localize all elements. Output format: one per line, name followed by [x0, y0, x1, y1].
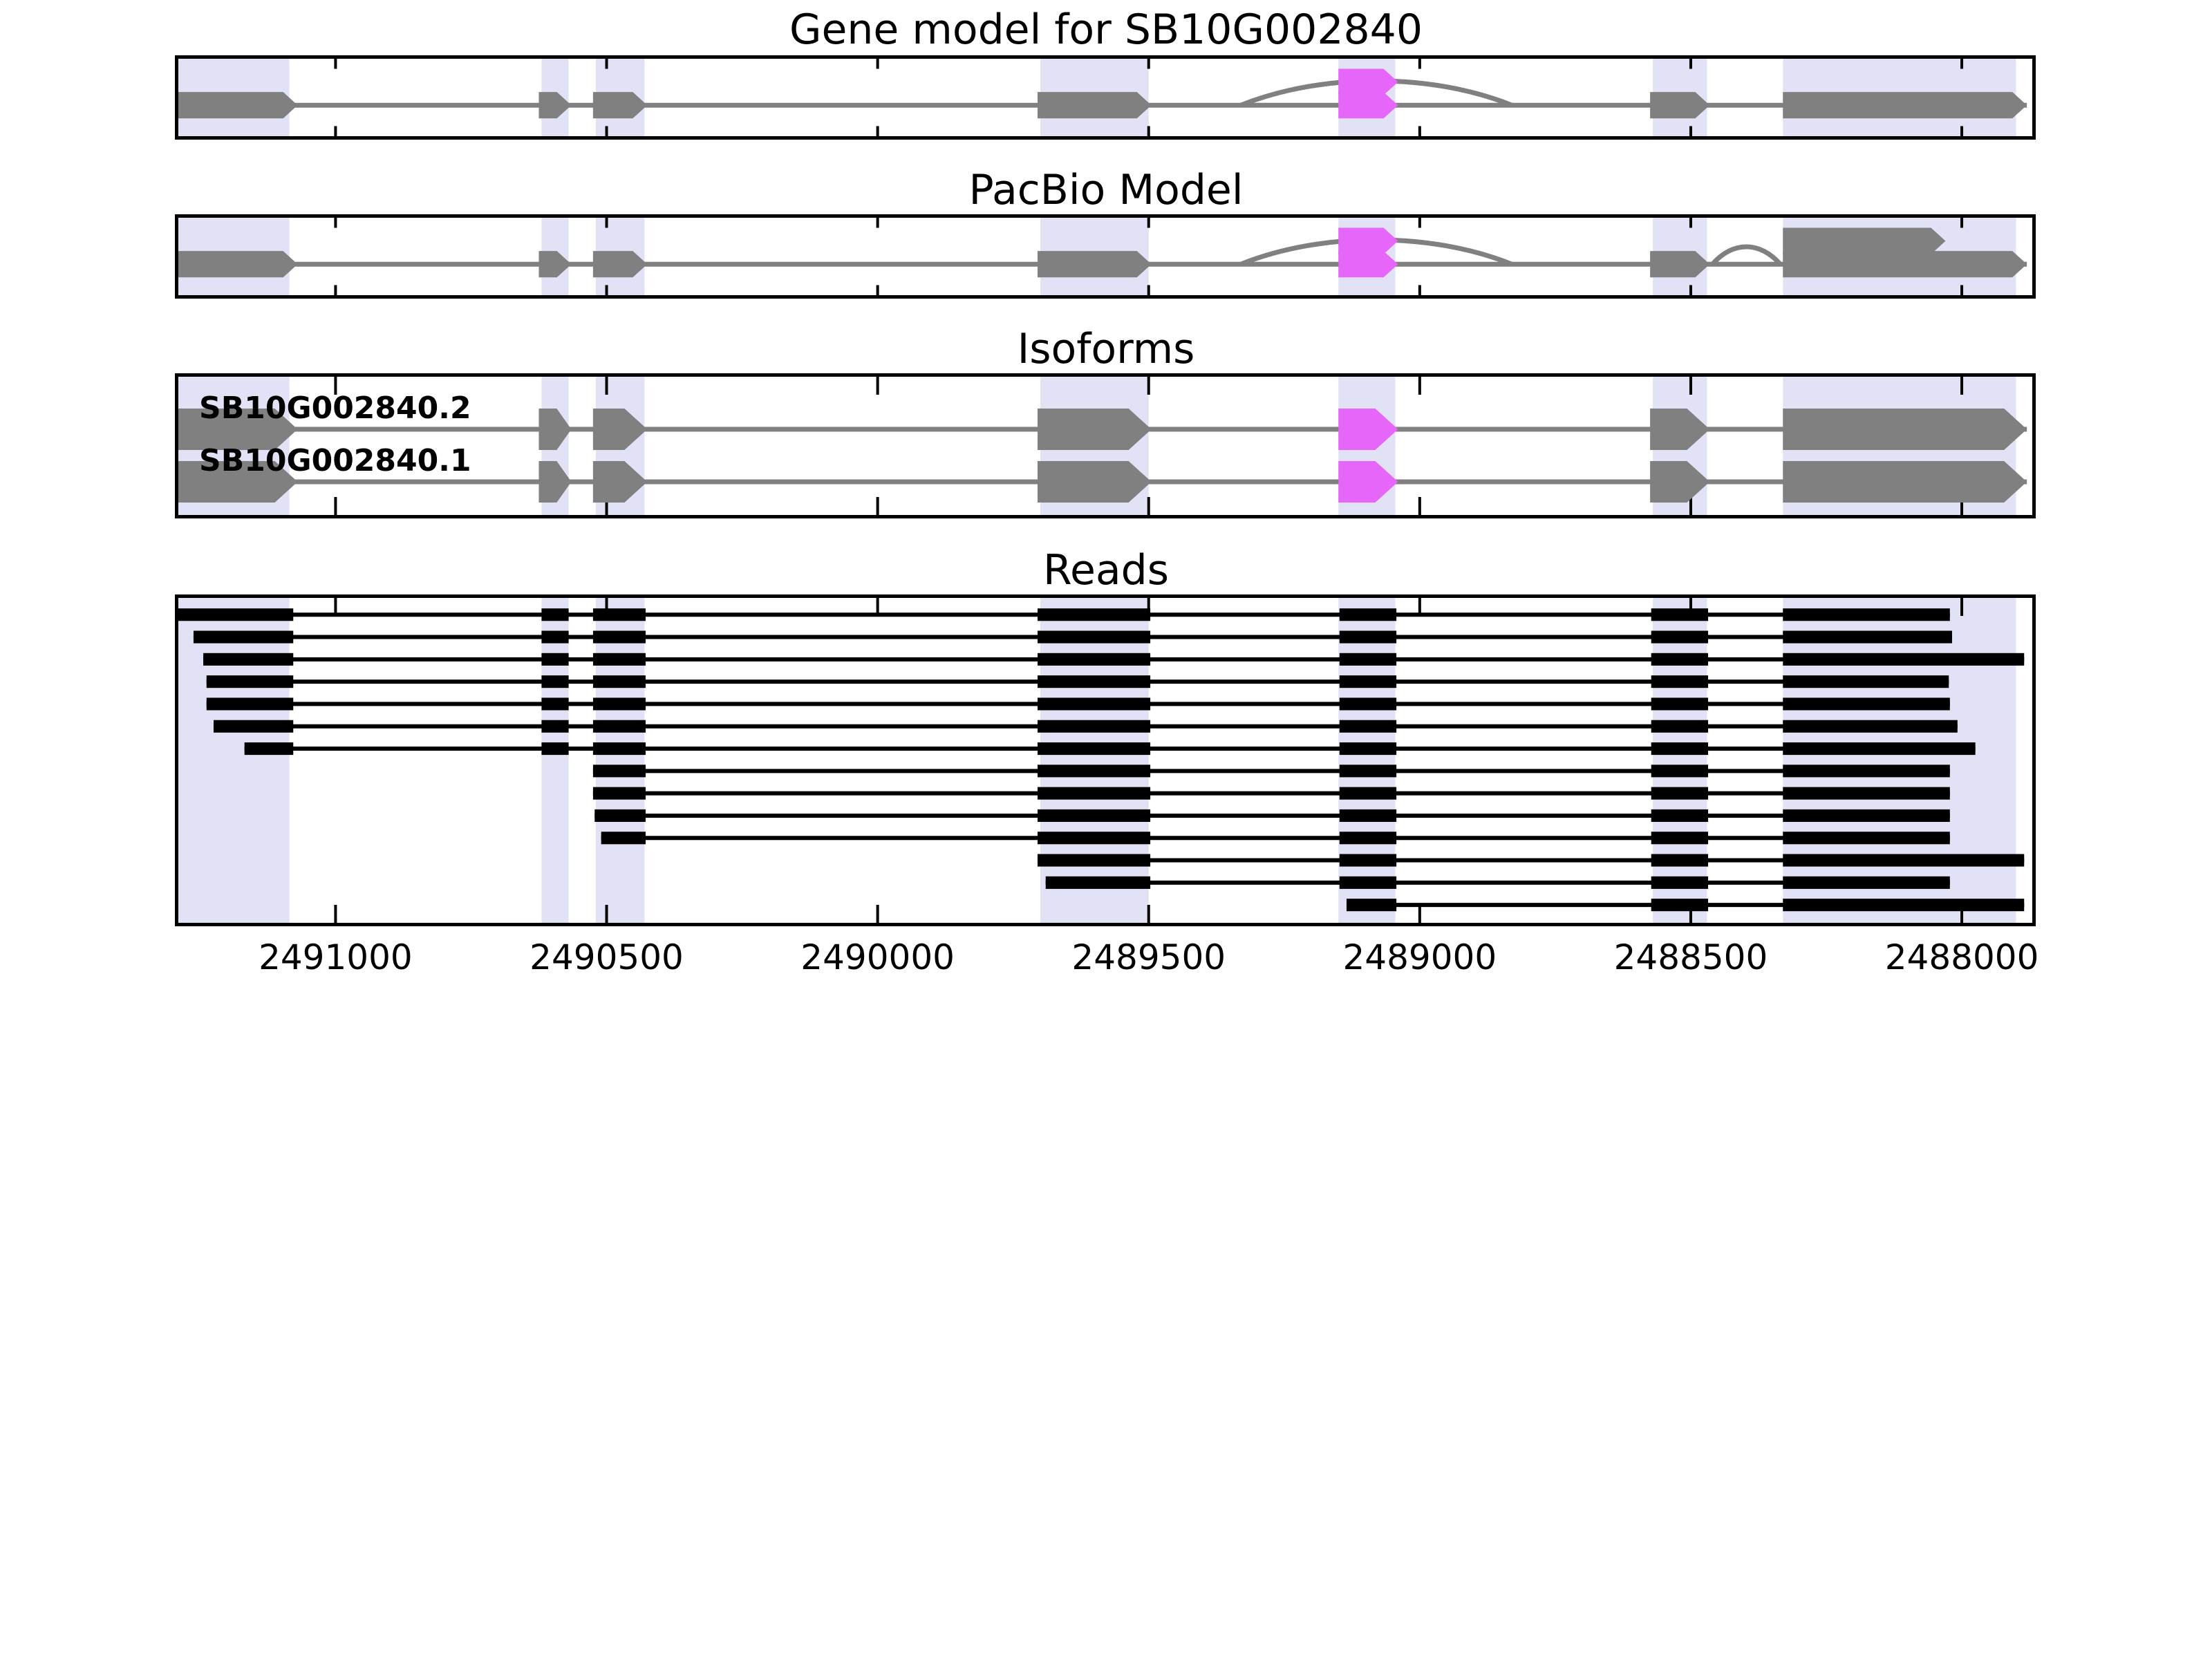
read-exon-block — [1340, 742, 1396, 755]
track-canvas-pacbio-model — [178, 218, 2032, 295]
read-exon-block — [1340, 608, 1396, 621]
panel-title-isoforms: Isoforms — [0, 325, 2212, 373]
read-exon-block — [1783, 832, 1950, 844]
read-exon-block — [1783, 765, 1950, 777]
shaded-band-3 — [1040, 598, 1149, 923]
panel-pacbio-model — [175, 214, 2036, 299]
read-exon-block — [1783, 720, 1958, 733]
exon-block — [1783, 409, 2027, 450]
exon-block — [1783, 228, 1945, 254]
read-exon-block — [1651, 899, 1708, 911]
panel-title-pacbio-model: PacBio Model — [0, 166, 2212, 214]
exon-block — [178, 92, 298, 118]
read-exon-block — [1783, 899, 2024, 911]
exon-block — [178, 251, 298, 277]
exon-block — [1038, 461, 1152, 503]
isoform-label-2: SB10G002840.1 — [199, 443, 471, 478]
axis-tick-label-4: 2489000 — [1342, 937, 1497, 977]
read-exon-block — [1038, 697, 1150, 710]
shaded-band-1 — [541, 598, 568, 923]
read-exon-block — [207, 697, 293, 710]
read-exon-block — [593, 653, 646, 666]
panel-title-gene-model: Gene model for SB10G002840 — [0, 6, 2212, 54]
read-exon-block — [593, 675, 646, 688]
read-exon-block — [1651, 809, 1708, 822]
shaded-band-6 — [1783, 598, 2016, 923]
panel-gene-model — [175, 55, 2036, 140]
read-exon-block — [1783, 630, 1952, 643]
read-exon-block — [541, 720, 568, 733]
read-row — [245, 742, 1976, 755]
read-exon-block — [1038, 675, 1150, 688]
read-exon-block — [1651, 787, 1708, 800]
read-exon-block — [1783, 787, 1950, 800]
read-exon-block — [1340, 765, 1396, 777]
read-row — [178, 608, 1950, 621]
read-row — [593, 765, 1950, 777]
read-exon-block — [1783, 675, 1949, 688]
read-exon-block — [593, 608, 646, 621]
read-exon-block — [1038, 630, 1150, 643]
read-exon-block — [1340, 832, 1396, 844]
axis-tick-label-1: 2490500 — [529, 937, 684, 977]
read-exon-block — [1038, 832, 1150, 844]
exon-block — [1783, 251, 2027, 277]
read-exon-block — [1038, 787, 1150, 800]
shaded-band-0 — [178, 598, 290, 923]
read-exon-block — [245, 742, 294, 755]
read-exon-block — [1038, 765, 1150, 777]
read-exon-block — [1046, 877, 1150, 889]
read-row — [594, 809, 1950, 822]
read-exon-block — [1038, 608, 1150, 621]
exon-block — [1038, 92, 1152, 118]
read-row — [214, 720, 1958, 733]
read-exon-block — [1038, 809, 1150, 822]
read-exon-block — [1340, 877, 1396, 889]
read-exon-block — [203, 653, 293, 666]
exon-block — [1783, 92, 2027, 118]
read-exon-block — [593, 765, 646, 777]
read-exon-block — [1038, 854, 1150, 867]
read-exon-block — [593, 742, 646, 755]
read-exon-block — [593, 787, 646, 800]
read-exon-block — [593, 720, 646, 733]
read-exon-block — [541, 697, 568, 710]
read-exon-block — [601, 832, 646, 844]
read-exon-block — [1651, 877, 1708, 889]
read-row — [194, 630, 1952, 643]
read-exon-block — [214, 720, 293, 733]
read-exon-block — [207, 675, 293, 688]
read-exon-block — [1651, 608, 1708, 621]
read-exon-block — [1038, 720, 1150, 733]
read-exon-block — [593, 630, 646, 643]
read-exon-block — [1038, 653, 1150, 666]
shaded-band-2 — [596, 598, 645, 923]
read-exon-block — [1340, 854, 1396, 867]
read-row — [207, 697, 1950, 710]
read-exon-block — [194, 630, 293, 643]
read-row — [1347, 899, 2024, 911]
read-row — [1038, 854, 2024, 867]
axis-tick-label-5: 2488500 — [1614, 937, 1768, 977]
read-exon-block — [1783, 608, 1950, 621]
read-exon-block — [1347, 899, 1396, 911]
read-exon-block — [1651, 720, 1708, 733]
read-exon-block — [1340, 720, 1396, 733]
axis-tick-label-6: 2488000 — [1885, 937, 2039, 977]
shaded-band-4 — [1338, 598, 1395, 923]
exon-block — [1038, 409, 1152, 450]
read-exon-block — [1783, 653, 2024, 666]
track-canvas-gene-model — [178, 59, 2032, 136]
read-exon-block — [1651, 854, 1708, 867]
read-exon-block — [541, 653, 568, 666]
read-exon-block — [1340, 787, 1396, 800]
isoform-label-1: SB10G002840.2 — [199, 391, 471, 426]
read-exon-block — [1340, 697, 1396, 710]
read-exon-block — [1783, 809, 1950, 822]
read-exon-block — [1651, 653, 1708, 666]
axis-tick-label-3: 2489500 — [1071, 937, 1226, 977]
track-canvas-reads — [178, 598, 2032, 923]
figure-root: gene-model Gene model for SB10G002840 Pa… — [0, 0, 2212, 1659]
read-exon-block — [1651, 675, 1708, 688]
shaded-band-5 — [1653, 598, 1707, 923]
read-exon-block — [541, 630, 568, 643]
read-row — [203, 653, 2024, 666]
read-exon-block — [1783, 742, 1975, 755]
panel-reads — [175, 594, 2036, 926]
read-exon-block — [1651, 630, 1708, 643]
exon-block — [1783, 461, 2027, 503]
read-exon-block — [1651, 697, 1708, 710]
read-exon-block — [1783, 697, 1950, 710]
read-row — [1046, 877, 1950, 889]
exon-block — [1038, 251, 1152, 277]
read-exon-block — [1340, 630, 1396, 643]
read-exon-block — [1651, 742, 1708, 755]
axis-tick-label-2: 2490000 — [800, 937, 955, 977]
read-exon-block — [1340, 653, 1396, 666]
read-exon-block — [594, 809, 646, 822]
read-exon-block — [541, 742, 568, 755]
read-row — [601, 832, 1950, 844]
read-exon-block — [1651, 765, 1708, 777]
read-exon-block — [178, 608, 293, 621]
read-row — [593, 787, 1950, 800]
read-exon-block — [593, 697, 646, 710]
read-exon-block — [1038, 742, 1150, 755]
read-exon-block — [1783, 877, 1950, 889]
read-exon-block — [541, 675, 568, 688]
read-exon-block — [541, 608, 568, 621]
read-exon-block — [1783, 854, 2024, 867]
axis-tick-label-0: 2491000 — [259, 937, 413, 977]
read-row — [207, 675, 1949, 688]
read-exon-block — [1340, 675, 1396, 688]
read-exon-block — [1651, 832, 1708, 844]
read-exon-block — [1340, 809, 1396, 822]
splice-arc — [1712, 247, 1780, 264]
panel-title-reads: Reads — [0, 546, 2212, 594]
